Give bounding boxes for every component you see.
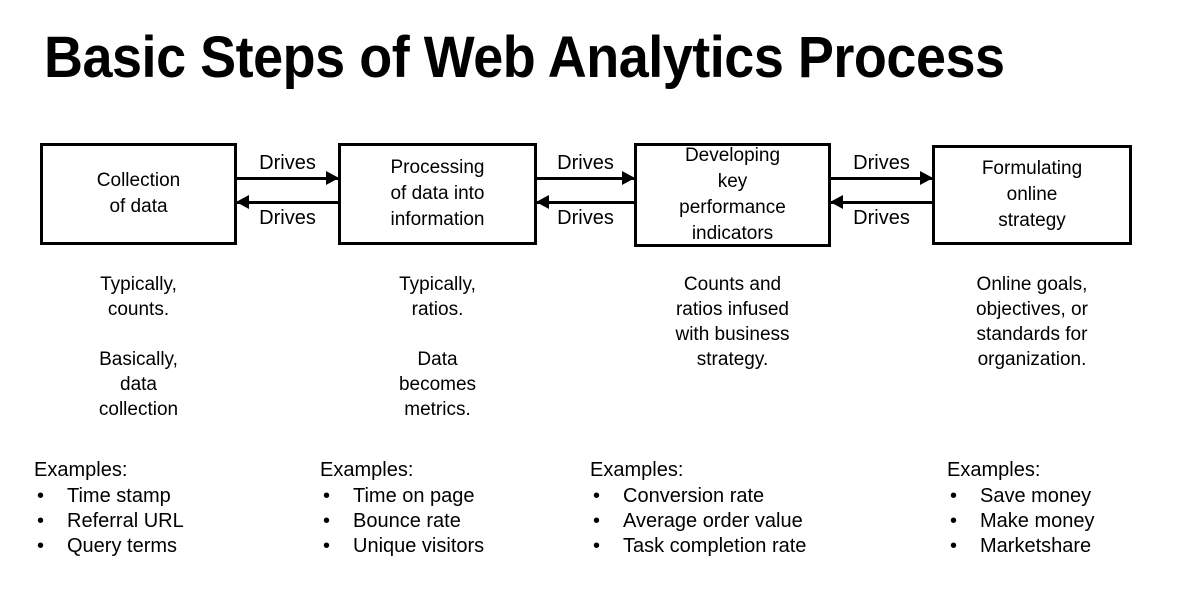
- description-paragraph: Basically, data collection: [40, 347, 237, 422]
- list-item-label: Referral URL: [67, 510, 184, 532]
- list-item-label: Make money: [980, 510, 1095, 532]
- examples-block-online-strategy: Examples: •Save money •Make money •Marke…: [947, 458, 1187, 559]
- arrow-line-backward: [237, 201, 338, 204]
- bullet-icon: •: [950, 484, 957, 509]
- bullet-icon: •: [37, 484, 44, 509]
- list-item-label: Unique visitors: [353, 535, 484, 557]
- examples-list: •Time on page •Bounce rate •Unique visit…: [320, 484, 600, 559]
- connector-forward-label: Drives: [537, 152, 634, 174]
- examples-heading: Examples:: [34, 458, 314, 483]
- process-box-formulating-online-strategy[interactable]: Formulating online strategy: [932, 145, 1132, 245]
- list-item-label: Conversion rate: [623, 485, 764, 507]
- description-paragraph: Counts and ratios infused with business …: [634, 272, 831, 372]
- list-item: •Bounce rate: [320, 509, 600, 534]
- examples-heading: Examples:: [947, 458, 1187, 483]
- list-item-label: Save money: [980, 485, 1091, 507]
- bullet-icon: •: [323, 484, 330, 509]
- list-item: •Time stamp: [34, 484, 314, 509]
- arrow-line-backward: [831, 201, 932, 204]
- process-box-collection-of-data[interactable]: Collection of data: [40, 143, 237, 245]
- bullet-icon: •: [950, 534, 957, 559]
- bullet-icon: •: [950, 509, 957, 534]
- arrow-head-right-icon: [920, 171, 933, 185]
- bullet-icon: •: [323, 509, 330, 534]
- examples-list: •Save money •Make money •Marketshare: [947, 484, 1187, 559]
- arrow-head-right-icon: [326, 171, 339, 185]
- list-item: •Query terms: [34, 534, 314, 559]
- connector-backward-label: Drives: [537, 207, 634, 229]
- bullet-icon: •: [593, 484, 600, 509]
- examples-block-collection-of-data: Examples: •Time stamp •Referral URL •Que…: [34, 458, 314, 559]
- connector-collection-to-processing: Drives Drives: [237, 143, 338, 247]
- list-item: •Time on page: [320, 484, 600, 509]
- process-box-processing-of-data-into-information[interactable]: Processing of data into information: [338, 143, 537, 245]
- connector-forward-label: Drives: [831, 152, 932, 174]
- list-item-label: Bounce rate: [353, 510, 461, 532]
- description-paragraph: Typically, counts.: [40, 272, 237, 322]
- bullet-icon: •: [37, 509, 44, 534]
- arrow-line-forward: [237, 177, 338, 180]
- examples-heading: Examples:: [590, 458, 940, 483]
- arrow-line-forward: [537, 177, 634, 180]
- list-item-label: Marketshare: [980, 535, 1091, 557]
- slide-canvas: Basic Steps of Web Analytics Process Col…: [0, 0, 1190, 612]
- examples-list: •Time stamp •Referral URL •Query terms: [34, 484, 314, 559]
- list-item: •Average order value: [590, 509, 940, 534]
- list-item-label: Time on page: [353, 485, 475, 507]
- examples-block-kpi: Examples: •Conversion rate •Average orde…: [590, 458, 940, 559]
- list-item-label: Query terms: [67, 535, 177, 557]
- description-paragraph: Data becomes metrics.: [338, 347, 537, 422]
- arrow-head-right-icon: [622, 171, 635, 185]
- stage-description-processing-of-data: Typically, ratios. Data becomes metrics.: [338, 272, 537, 422]
- list-item: •Make money: [947, 509, 1187, 534]
- bullet-icon: •: [323, 534, 330, 559]
- connector-processing-to-kpi: Drives Drives: [537, 143, 634, 247]
- connector-forward-label: Drives: [237, 152, 338, 174]
- stage-description-kpi: Counts and ratios infused with business …: [634, 272, 831, 372]
- stage-description-collection-of-data: Typically, counts. Basically, data colle…: [40, 272, 237, 422]
- page-title: Basic Steps of Web Analytics Process: [44, 26, 1005, 90]
- list-item: •Unique visitors: [320, 534, 600, 559]
- examples-block-processing-of-data: Examples: •Time on page •Bounce rate •Un…: [320, 458, 600, 559]
- arrow-line-forward: [831, 177, 932, 180]
- arrow-line-backward: [537, 201, 634, 204]
- list-item: •Task completion rate: [590, 534, 940, 559]
- list-item-label: Average order value: [623, 510, 803, 532]
- list-item-label: Task completion rate: [623, 535, 806, 557]
- list-item: •Marketshare: [947, 534, 1187, 559]
- connector-kpi-to-strategy: Drives Drives: [831, 143, 932, 247]
- connector-backward-label: Drives: [831, 207, 932, 229]
- description-paragraph: Online goals, objectives, or standards f…: [932, 272, 1132, 372]
- stage-description-online-strategy: Online goals, objectives, or standards f…: [932, 272, 1132, 372]
- list-item: •Conversion rate: [590, 484, 940, 509]
- connector-backward-label: Drives: [237, 207, 338, 229]
- process-box-developing-key-performance-indicators[interactable]: Developing key performance indicators: [634, 143, 831, 247]
- list-item: •Save money: [947, 484, 1187, 509]
- examples-heading: Examples:: [320, 458, 600, 483]
- list-item: •Referral URL: [34, 509, 314, 534]
- bullet-icon: •: [593, 509, 600, 534]
- list-item-label: Time stamp: [67, 485, 171, 507]
- examples-list: •Conversion rate •Average order value •T…: [590, 484, 940, 559]
- description-paragraph: Typically, ratios.: [338, 272, 537, 322]
- bullet-icon: •: [37, 534, 44, 559]
- bullet-icon: •: [593, 534, 600, 559]
